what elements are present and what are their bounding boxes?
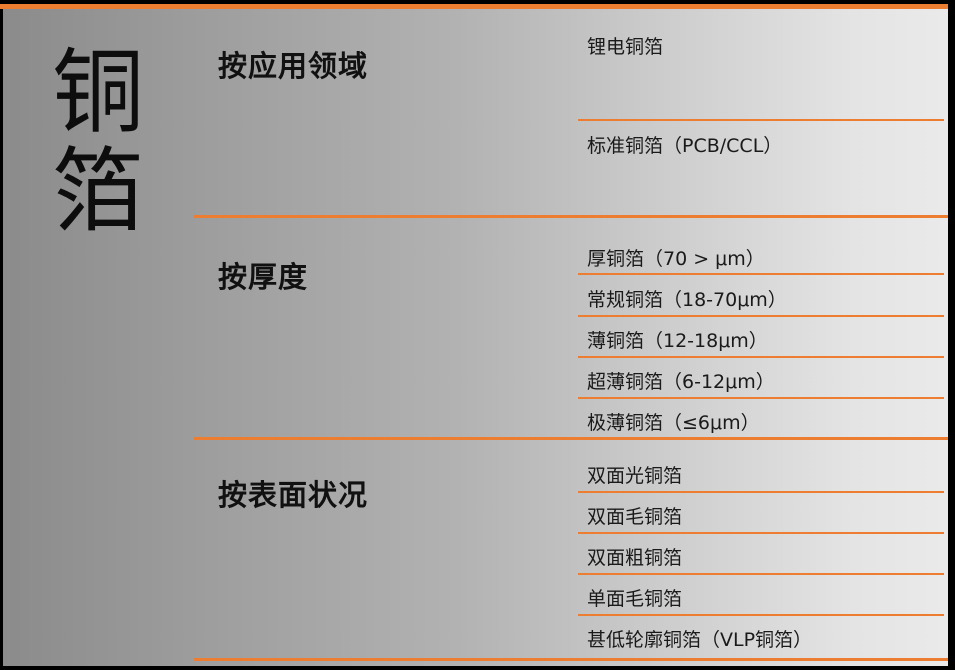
leaf-item-double-side-shiny-foil[interactable]: 双面光铜箔 xyxy=(587,461,682,488)
slide-canvas: 铜 箔 按应用领域 锂电铜箔 标准铜箔（PCB/CCL） 按厚度 厚铜箔（70 … xyxy=(3,9,948,666)
leaf-rule xyxy=(578,273,944,275)
leaf-item-single-side-matte-foil[interactable]: 单面毛铜箔 xyxy=(587,584,682,611)
master-title: 铜 箔 xyxy=(23,43,173,242)
leaf-rule xyxy=(578,315,944,317)
leaf-item-regular-foil[interactable]: 常规铜箔（18-70μm） xyxy=(587,285,787,312)
leaf-item-double-side-matte-foil[interactable]: 双面毛铜箔 xyxy=(587,502,682,529)
slide-root: 铜 箔 按应用领域 锂电铜箔 标准铜箔（PCB/CCL） 按厚度 厚铜箔（70 … xyxy=(0,0,955,670)
group-rule-2 xyxy=(194,437,948,440)
leaf-item-thick-foil[interactable]: 厚铜箔（70 > μm） xyxy=(587,244,765,271)
leaf-item-extremely-thin-foil[interactable]: 极薄铜箔（≤6μm） xyxy=(587,408,760,435)
leaf-item-thin-foil[interactable]: 薄铜箔（12-18μm） xyxy=(587,326,768,353)
leaf-item-lithium-battery-foil[interactable]: 锂电铜箔 xyxy=(587,32,663,59)
leaf-rule xyxy=(578,119,944,121)
group-rule-1 xyxy=(194,215,948,218)
leaf-item-vlp-foil[interactable]: 甚低轮廓铜箔（VLP铜箔） xyxy=(587,625,812,652)
group-rule-3 xyxy=(194,658,948,661)
leaf-item-standard-foil-pcb-ccl[interactable]: 标准铜箔（PCB/CCL） xyxy=(587,131,782,158)
group-title-application: 按应用领域 xyxy=(218,43,368,85)
leaf-rule xyxy=(578,614,944,616)
group-title-surface-condition: 按表面状况 xyxy=(218,472,368,514)
leaf-rule xyxy=(578,491,944,493)
leaf-rule xyxy=(578,356,944,358)
leaf-item-double-side-rough-foil[interactable]: 双面粗铜箔 xyxy=(587,543,682,570)
group-title-thickness: 按厚度 xyxy=(218,254,308,296)
leaf-rule xyxy=(578,397,944,399)
leaf-rule xyxy=(578,573,944,575)
leaf-item-ultra-thin-foil[interactable]: 超薄铜箔（6-12μm） xyxy=(587,367,775,394)
leaf-rule xyxy=(578,532,944,534)
